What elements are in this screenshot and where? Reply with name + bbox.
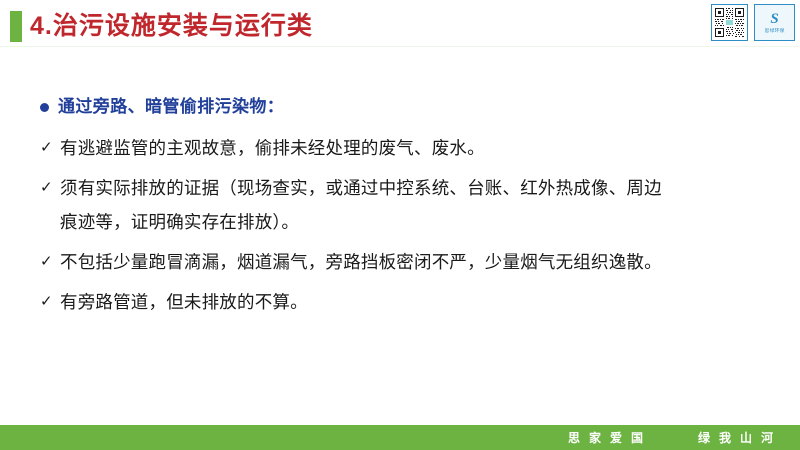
footer-slogans: 思家爱国 绿我山河 — [568, 425, 782, 450]
footer-slogan-left: 思家爱国 — [568, 429, 652, 446]
check-list: ✓ 有逃避监管的主观故意，偷排未经处理的废气、废水。 ✓ 须有实际排放的证据（现… — [0, 131, 800, 319]
list-item-line: 有逃避监管的主观故意，偷排未经处理的废气、废水。 — [60, 138, 485, 158]
list-item-line: 不包括少量跑冒滴漏，烟道漏气，旁路挡板密闭不严，少量烟气无组织逸散。 — [60, 252, 662, 272]
bullet-heading: 通过旁路、暗管偷排污染物： — [0, 95, 800, 119]
brand-logo-name: 思绿环保 — [764, 28, 784, 34]
list-item-text: 须有实际排放的证据（现场查实，或通过中控系统、台账、红外热成像、周边 痕迹等，证… — [60, 171, 662, 239]
slide-footer: 思家爱国 绿我山河 — [0, 425, 800, 450]
list-item: ✓ 不包括少量跑冒滴漏，烟道漏气，旁路挡板密闭不严，少量烟气无组织逸散。 — [0, 245, 800, 279]
list-item: ✓ 有逃避监管的主观故意，偷排未经处理的废气、废水。 — [0, 131, 800, 165]
check-icon: ✓ — [40, 131, 60, 165]
brand-logo-mark: S — [770, 12, 778, 27]
list-item-text: 有旁路管道，但未排放的不算。 — [60, 285, 308, 319]
header-divider — [0, 46, 800, 47]
check-icon: ✓ — [40, 171, 60, 205]
list-item-line: 有旁路管道，但未排放的不算。 — [60, 292, 308, 312]
title-accent-bar — [10, 11, 22, 42]
list-item: ✓ 须有实际排放的证据（现场查实，或通过中控系统、台账、红外热成像、周边 痕迹等… — [0, 171, 800, 239]
check-icon: ✓ — [40, 285, 60, 319]
page-title: 4.治污设施安装与运行类 — [30, 10, 313, 42]
list-item-line: 痕迹等，证明确实存在排放）。 — [60, 205, 662, 239]
brand-logo[interactable]: S 思绿环保 — [754, 4, 795, 41]
list-item-text: 有逃避监管的主观故意，偷排未经处理的废气、废水。 — [60, 131, 485, 165]
check-icon: ✓ — [40, 245, 60, 279]
bullet-dot-icon — [40, 103, 49, 112]
list-item-text: 不包括少量跑冒滴漏，烟道漏气，旁路挡板密闭不严，少量烟气无组织逸散。 — [60, 245, 662, 279]
qr-code-icon[interactable] — [711, 4, 748, 41]
slide-header: 4.治污设施安装与运行类 — [0, 0, 800, 52]
brand-cluster: S 思绿环保 — [711, 4, 795, 41]
slide-body: 通过旁路、暗管偷排污染物： ✓ 有逃避监管的主观故意，偷排未经处理的废气、废水。… — [0, 95, 800, 325]
list-item-line: 须有实际排放的证据（现场查实，或通过中控系统、台账、红外热成像、周边 — [60, 178, 662, 198]
bullet-heading-label: 通过旁路、暗管偷排污染物： — [58, 95, 284, 119]
list-item: ✓ 有旁路管道，但未排放的不算。 — [0, 285, 800, 319]
footer-slogan-right: 绿我山河 — [698, 429, 782, 446]
